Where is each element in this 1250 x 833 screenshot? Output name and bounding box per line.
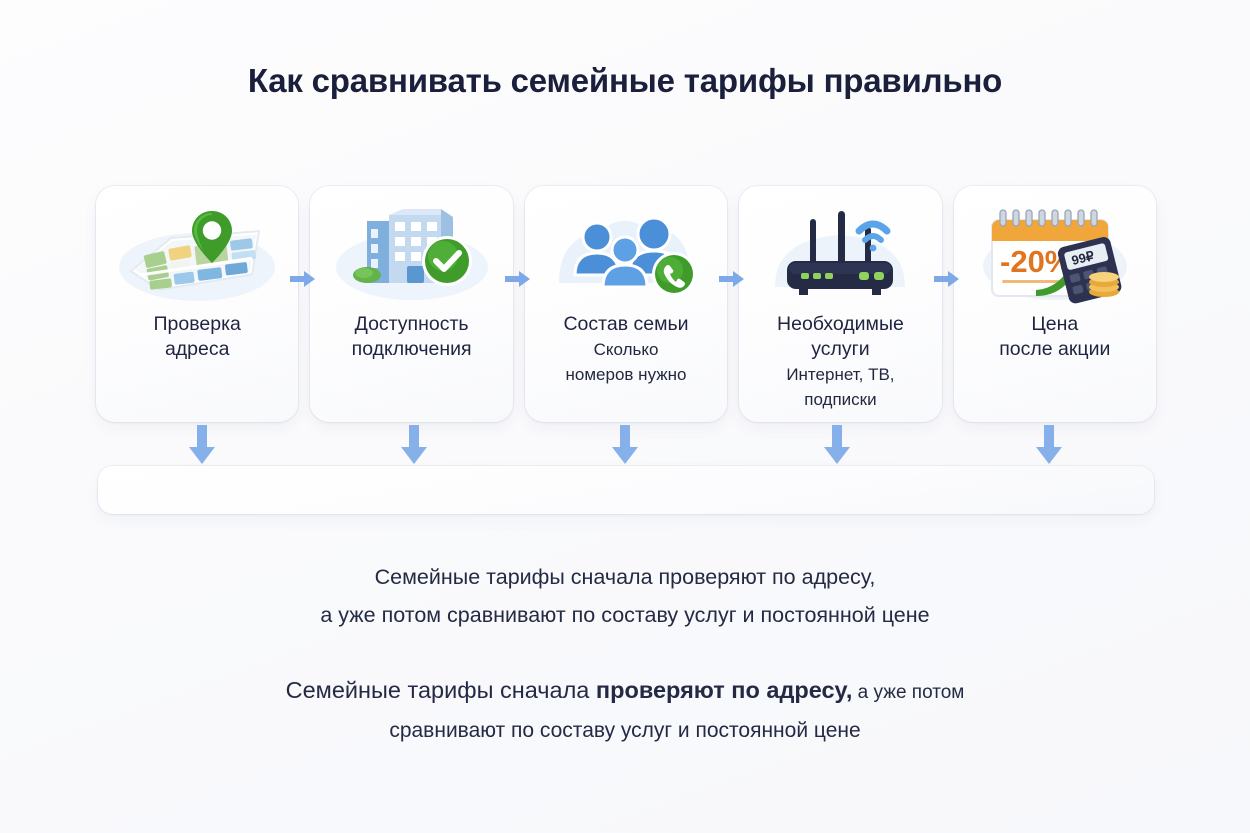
step-card-family[interactable]: Состав семьи Сколько номеров нужно: [525, 186, 727, 422]
arrow-down-icon-3: [611, 425, 639, 465]
calendar-discount-calculator-icon: -20% 99₽: [962, 202, 1148, 308]
step-title-line2: адреса: [104, 337, 290, 362]
caption-secondary-line2: сравнивают по составу услуг и постоянной…: [0, 712, 1250, 749]
step-card-text: Доступность подключения: [318, 312, 504, 362]
step-card-services[interactable]: Необходимые услуги Интернет, ТВ, подписк…: [739, 186, 941, 422]
step-subtitle-line2: подписки: [747, 388, 933, 412]
step-title-line2: подключения: [318, 337, 504, 362]
caption-secondary-line1: Семейные тарифы сначала проверяют по адр…: [0, 672, 1250, 712]
caption-secondary-part1: Семейные тарифы сначала: [286, 677, 596, 703]
step-title: Проверка: [104, 312, 290, 337]
step-card-price[interactable]: -20% 99₽: [954, 186, 1156, 422]
step-subtitle-line2: номеров нужно: [533, 363, 719, 387]
building-check-icon: [318, 202, 504, 308]
caption-primary-line2: а уже потом сравнивают по составу услуг …: [0, 596, 1250, 634]
arrow-down-icon-2: [400, 425, 428, 465]
caption-secondary-bold: проверяют по адресу,: [596, 677, 852, 703]
step-card-address[interactable]: Проверка адреса: [96, 186, 298, 422]
step-title: Необходимые: [747, 312, 933, 337]
caption-secondary: Семейные тарифы сначала проверяют по адр…: [0, 672, 1250, 749]
caption-secondary-part2: а уже потом: [852, 682, 964, 703]
step-card-availability[interactable]: Доступность подключения: [310, 186, 512, 422]
arrow-right-icon: [505, 268, 531, 290]
step-card-text: Цена после акции: [962, 312, 1148, 362]
step-title: Доступность: [318, 312, 504, 337]
step-title-line2: после акции: [962, 337, 1148, 362]
arrow-down-icon-5: [1035, 425, 1063, 465]
wifi-router-icon: [747, 202, 933, 308]
caption-primary: Семейные тарифы сначала проверяют по адр…: [0, 558, 1250, 634]
arrow-down-icon-4: [823, 425, 851, 465]
arrow-right-icon: [934, 268, 960, 290]
step-title: Состав семьи: [533, 312, 719, 337]
steps-row: Проверка адреса: [96, 186, 1156, 422]
step-card-text: Необходимые услуги Интернет, ТВ, подписк…: [747, 312, 933, 412]
step-card-text: Проверка адреса: [104, 312, 290, 362]
arrow-down-icon-1: [188, 425, 216, 465]
step-subtitle: Интернет, ТВ,: [747, 363, 933, 387]
page-title: Как сравнивать семейные тарифы правильно: [0, 62, 1250, 100]
caption-primary-line1: Семейные тарифы сначала проверяют по адр…: [0, 558, 1250, 596]
step-subtitle: Сколько: [533, 338, 719, 362]
map-pin-icon: [104, 202, 290, 308]
arrow-right-icon: [290, 268, 316, 290]
step-title: Цена: [962, 312, 1148, 337]
arrow-right-icon: [719, 268, 745, 290]
step-title-line2: услуги: [747, 337, 933, 362]
family-group-phone-icon: [533, 202, 719, 308]
summary-bar: [98, 466, 1154, 514]
step-card-text: Состав семьи Сколько номеров нужно: [533, 312, 719, 387]
